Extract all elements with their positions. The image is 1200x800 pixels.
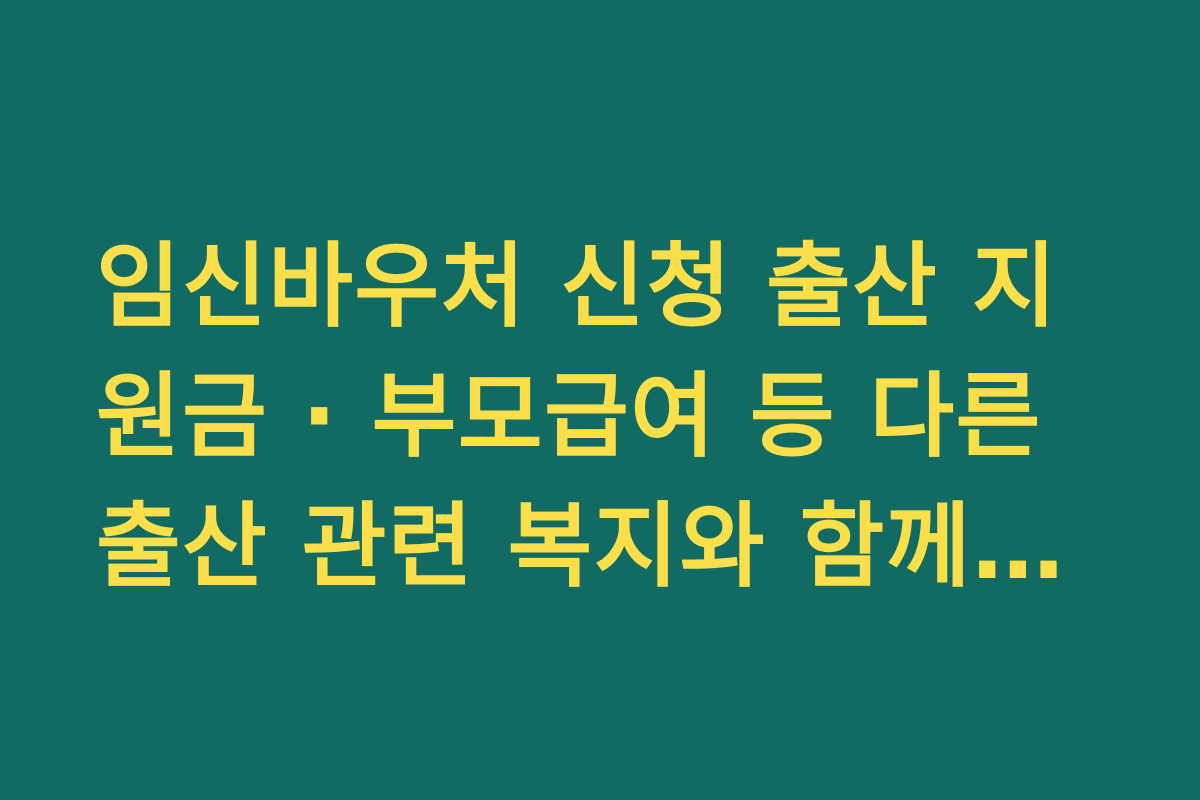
headline-text-block: 임신바우처 신청 출산 지 원금 · 부모급여 등 다른 출산 관련 복지와 함… xyxy=(96,222,1116,612)
headline-line-3: 출산 관련 복지와 함께… xyxy=(96,482,1116,612)
headline-line-1: 임신바우처 신청 출산 지 xyxy=(96,222,1116,352)
headline-line-2: 원금 · 부모급여 등 다른 xyxy=(96,352,1116,482)
thumbnail-card: 임신바우처 신청 출산 지 원금 · 부모급여 등 다른 출산 관련 복지와 함… xyxy=(0,0,1200,800)
